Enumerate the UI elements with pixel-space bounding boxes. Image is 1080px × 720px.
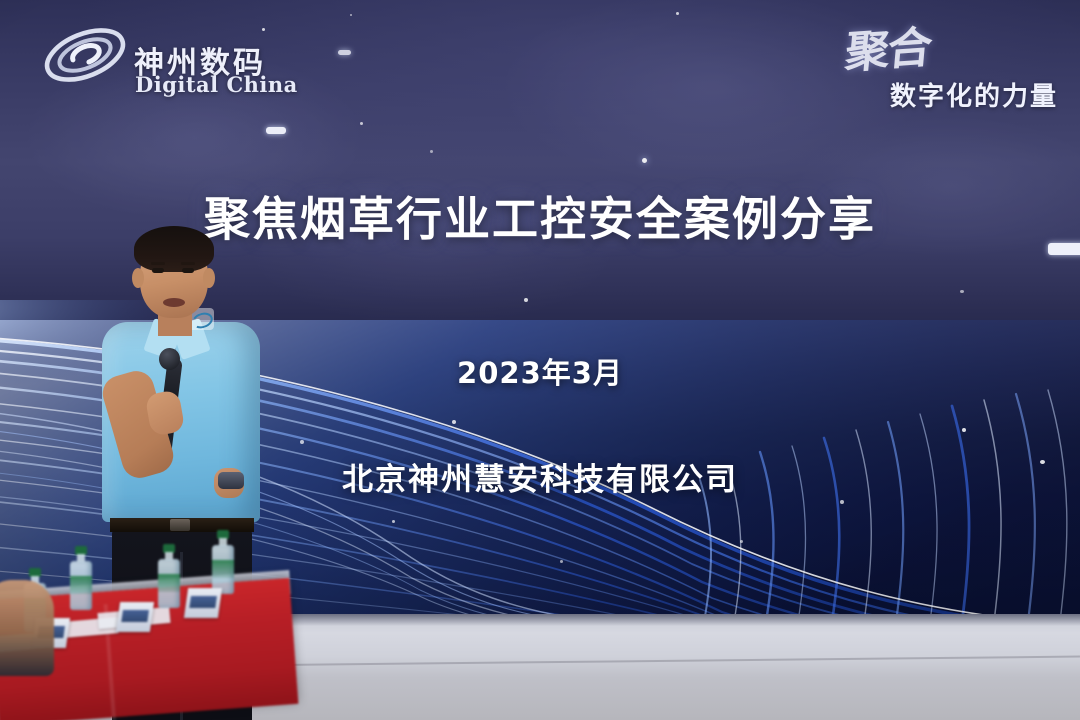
particle <box>266 127 286 134</box>
speaker-eye-right <box>182 268 194 273</box>
particle <box>360 122 363 125</box>
particle <box>338 50 351 55</box>
speaker-eye-left <box>152 268 164 273</box>
bottle-label <box>70 576 92 594</box>
water-bottle <box>212 530 234 594</box>
event-tagline: 数字化的力量 <box>890 76 1058 113</box>
water-bottle <box>158 544 180 608</box>
seated-attendee <box>0 580 54 676</box>
speaker-mouth <box>163 298 185 307</box>
digital-china-logo: 神州数码 Digital China <box>42 20 312 92</box>
particle <box>430 150 433 153</box>
name-placard <box>116 602 154 632</box>
speaker-ear-left <box>132 268 144 288</box>
event-calligraphy: 聚合 <box>843 11 933 81</box>
particle <box>642 158 647 163</box>
water-bottle <box>70 546 92 610</box>
digital-china-spiral-logo-icon <box>42 24 128 86</box>
belt-buckle <box>170 519 190 531</box>
particle <box>960 290 964 293</box>
particle <box>676 12 679 15</box>
event-brand-mark: 聚合 数字化的力量 <box>798 14 1058 114</box>
presentation-clicker-icon <box>218 472 244 489</box>
speaker-brow-left <box>151 262 165 265</box>
particle <box>350 14 352 16</box>
bottle-label <box>212 560 234 578</box>
speaker-hair <box>134 226 214 272</box>
conference-photo: 神州数码 Digital China 聚合 数字化的力量 聚焦烟草行业工控安全案… <box>0 0 1080 720</box>
bottle-label <box>158 574 180 592</box>
name-placard <box>184 588 222 618</box>
speaker-brow-right <box>181 262 195 265</box>
speaker-ear-right <box>203 268 215 288</box>
logo-name-en: Digital China <box>135 72 298 97</box>
